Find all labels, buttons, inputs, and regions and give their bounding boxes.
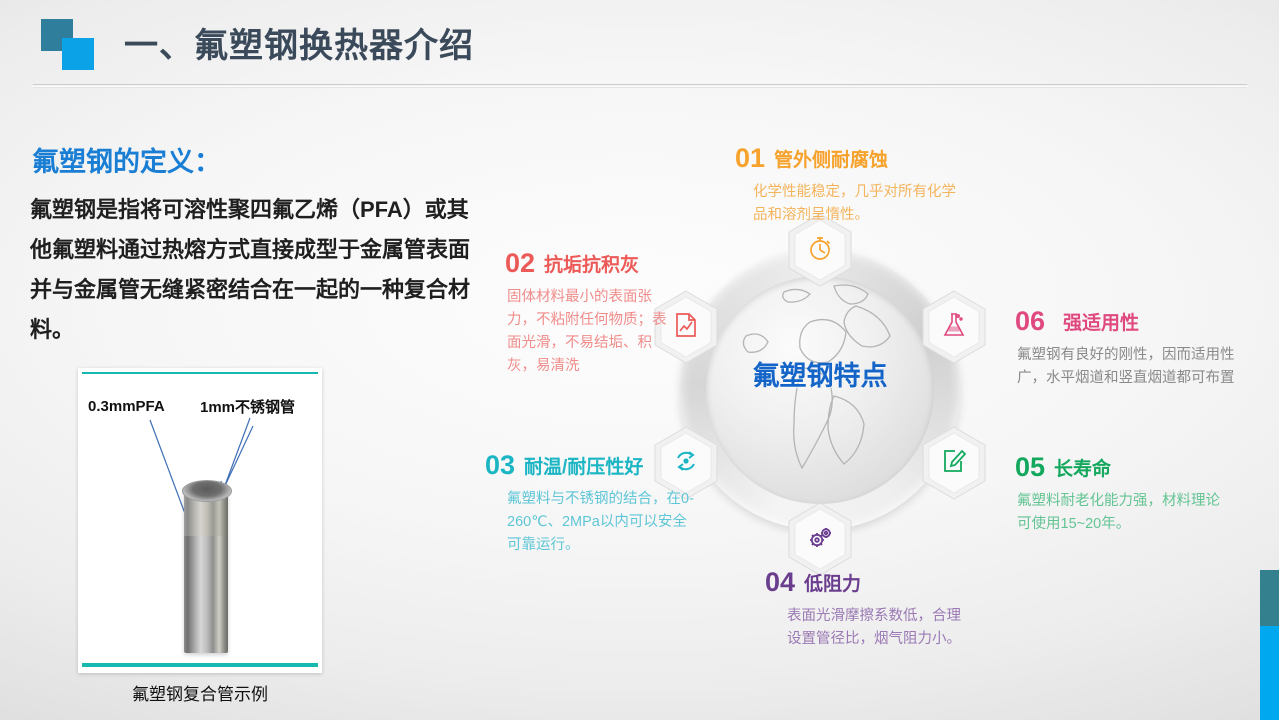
feature-01-number: 01 — [735, 143, 765, 173]
feature-06-heading: 强适用性 — [1063, 313, 1139, 334]
feature-04-body: 表面光滑摩擦系数低，合理设置管径比，烟气阻力小。 — [787, 605, 965, 651]
header-divider — [32, 84, 1248, 88]
feature-06-number: 06 — [1015, 306, 1045, 336]
feature-02-body: 固体材料最小的表面张力，不粘附任何物质；表面光滑，不易结垢、积灰，易清洗 — [507, 286, 680, 378]
feature-item-04: 04低阻力 表面光滑摩擦系数低，合理设置管径比，烟气阻力小。 — [765, 567, 965, 651]
feature-item-06: 06强适用性 氟塑钢有良好的刚性，因而适用性广，水平烟道和竖直烟道都可布置 — [1015, 306, 1245, 390]
feature-01-heading: 管外侧耐腐蚀 — [774, 150, 888, 171]
feature-03-heading: 耐温/耐压性好 — [524, 457, 643, 478]
pipe-photo-inner: 0.3mmPFA 1mm不锈钢管 — [78, 368, 322, 673]
accent-bar-bottom — [1260, 626, 1279, 720]
feature-02-title-row: 02抗垢抗积灰 — [505, 248, 680, 279]
accent-bar-top — [1260, 570, 1279, 626]
gears-icon — [806, 523, 834, 556]
definition-title: 氟塑钢的定义： — [32, 140, 221, 179]
feature-06-body: 氟塑钢有良好的刚性，因而适用性广，水平烟道和竖直烟道都可布置 — [1017, 344, 1245, 390]
feature-05-heading: 长寿命 — [1054, 459, 1111, 480]
feature-01-body: 化学性能稳定，几乎对所有化学品和溶剂呈惰性。 — [753, 181, 965, 227]
hex-node-flask[interactable] — [921, 290, 987, 364]
feature-item-03: 03耐温/耐压性好 氟塑料与不锈钢的结合，在0-260℃、2MPa以内可以安全可… — [485, 450, 695, 557]
feature-item-01: 01管外侧耐腐蚀 化学性能稳定，几乎对所有化学品和溶剂呈惰性。 — [735, 143, 965, 227]
feature-03-body: 氟塑料与不锈钢的结合，在0-260℃、2MPa以内可以安全可靠运行。 — [507, 488, 695, 557]
recycle-icon — [672, 447, 700, 480]
feature-06-title-row: 06强适用性 — [1015, 306, 1245, 337]
feature-item-05: 05长寿命 氟塑料耐老化能力强，材料理论可使用15~20年。 — [1015, 452, 1225, 536]
photo-bottom-rule — [82, 663, 318, 667]
feature-03-title-row: 03耐温/耐压性好 — [485, 450, 695, 481]
feature-05-number: 05 — [1015, 452, 1045, 482]
feature-05-body: 氟塑料耐老化能力强，材料理论可使用15~20年。 — [1017, 490, 1225, 536]
slide-canvas: 一、氟塑钢换热器介绍 氟塑钢的定义： 氟塑钢是指将可溶性聚四氟乙烯（PFA）或其… — [0, 0, 1279, 720]
pencil-edit-icon — [941, 447, 967, 480]
slide-header: 一、氟塑钢换热器介绍 — [0, 0, 1279, 92]
hex-node-pencil[interactable] — [921, 426, 987, 500]
feature-04-number: 04 — [765, 567, 795, 597]
center-title: 氟塑钢特点 — [680, 354, 960, 393]
header-square-blue — [62, 38, 94, 70]
page-title: 一、氟塑钢换热器介绍 — [124, 18, 474, 67]
chart-document-icon — [673, 311, 699, 344]
feature-02-number: 02 — [505, 248, 535, 278]
definition-body: 氟塑钢是指将可溶性聚四氟乙烯（PFA）或其他氟塑料通过热熔方式直接成型于金属管表… — [30, 190, 485, 350]
stopwatch-icon — [806, 234, 834, 267]
pipe-rim — [182, 480, 232, 502]
feature-05-title-row: 05长寿命 — [1015, 452, 1225, 483]
features-infographic: 氟塑钢特点 — [485, 120, 1279, 720]
feature-02-heading: 抗垢抗积灰 — [544, 255, 639, 276]
feature-03-number: 03 — [485, 450, 515, 480]
hex-node-gears[interactable] — [787, 502, 853, 576]
feature-01-title-row: 01管外侧耐腐蚀 — [735, 143, 965, 174]
flask-icon — [941, 311, 967, 344]
feature-04-heading: 低阻力 — [804, 574, 861, 595]
feature-item-02: 02抗垢抗积灰 固体材料最小的表面张力，不粘附任何物质；表面光滑，不易结垢、积灰… — [505, 248, 680, 378]
feature-ring: 氟塑钢特点 — [680, 250, 960, 530]
photo-caption: 氟塑钢复合管示例 — [78, 680, 322, 705]
pipe-photo-card: 0.3mmPFA 1mm不锈钢管 — [78, 368, 322, 673]
feature-04-title-row: 04低阻力 — [765, 567, 965, 598]
